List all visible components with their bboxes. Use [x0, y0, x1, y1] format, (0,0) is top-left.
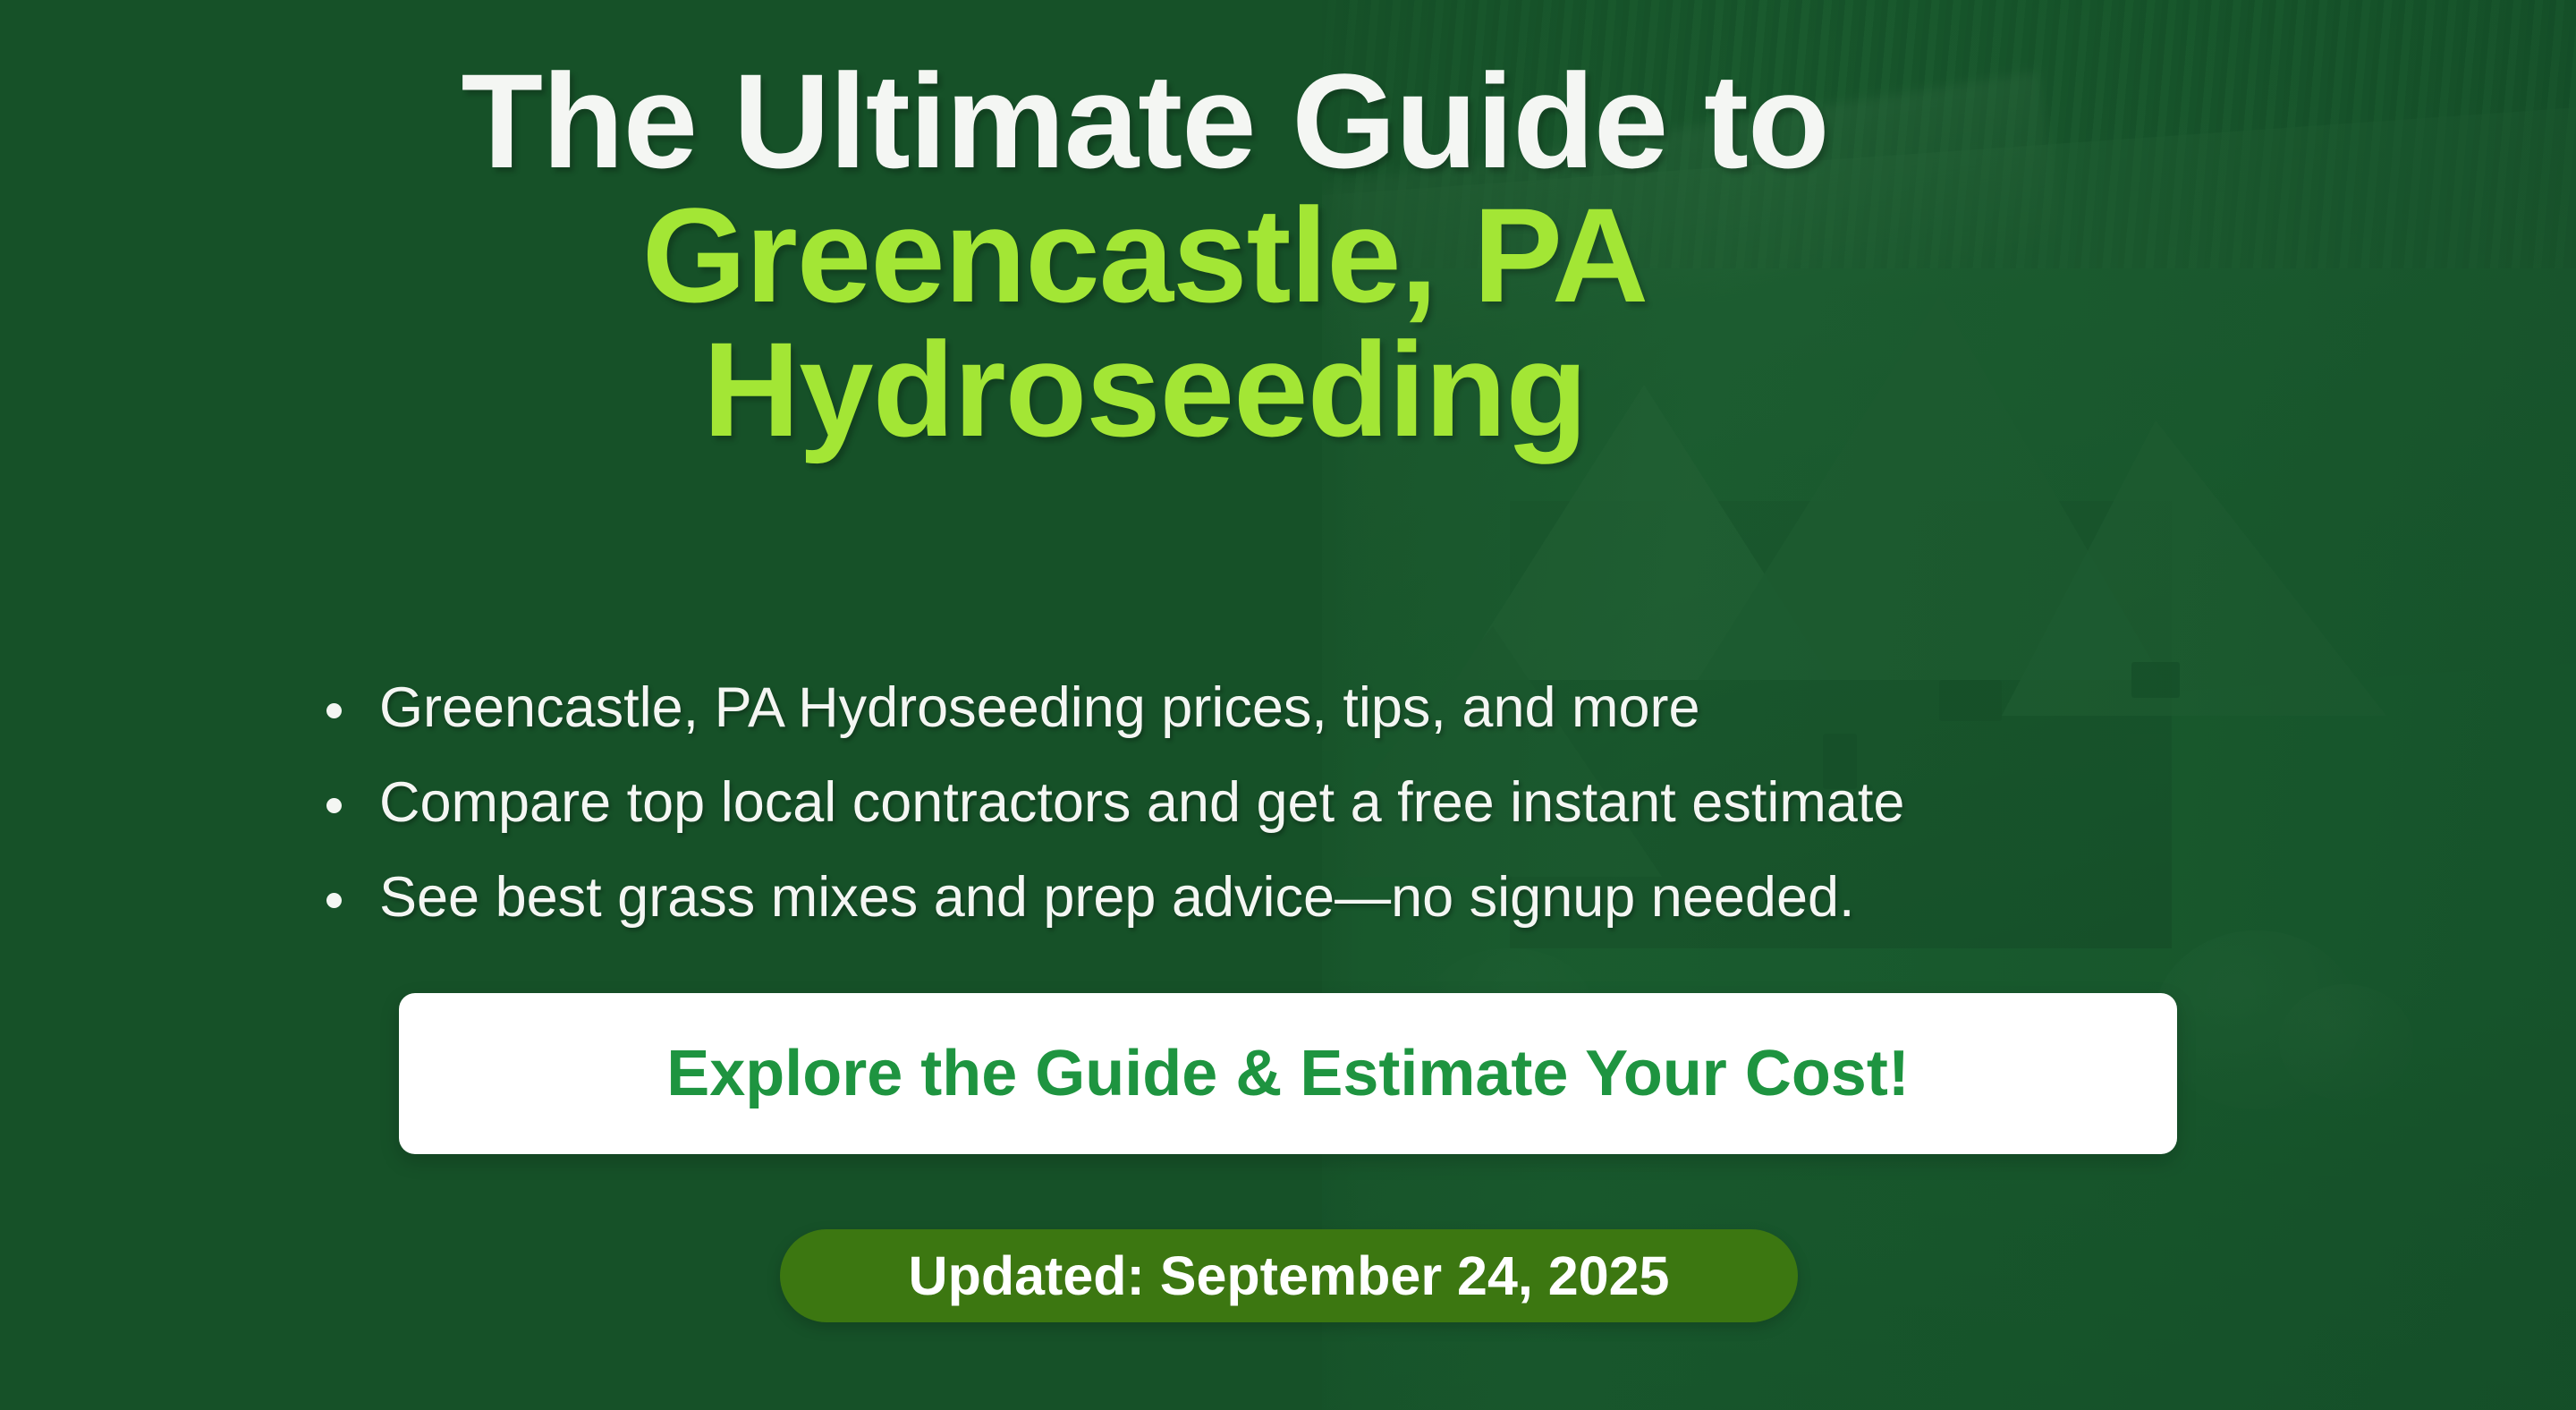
headline-line-1: The Ultimate Guide to [0, 54, 2290, 188]
bullet-dot-icon [326, 703, 342, 718]
explore-guide-cta-button[interactable]: Explore the Guide & Estimate Your Cost! [399, 993, 2177, 1154]
list-item: Compare top local contractors and get a … [318, 775, 1904, 831]
list-item: Greencastle, PA Hydroseeding prices, tip… [318, 680, 1904, 736]
list-item: See best grass mixes and prep advice—no … [318, 870, 1904, 926]
headline-line-2: Greencastle, PA [0, 188, 2290, 322]
list-item-label: Compare top local contractors and get a … [379, 771, 1904, 834]
hero-content: The Ultimate Guide to Greencastle, PA Hy… [0, 0, 2576, 1410]
headline-line-3: Hydroseeding [0, 322, 2290, 456]
benefit-list: Greencastle, PA Hydroseeding prices, tip… [318, 680, 1904, 964]
updated-date-badge: Updated: September 24, 2025 [780, 1229, 1798, 1322]
page-title: The Ultimate Guide to Greencastle, PA Hy… [0, 54, 2290, 456]
bullet-dot-icon [326, 893, 342, 908]
bullet-dot-icon [326, 798, 342, 813]
updated-date-label: Updated: September 24, 2025 [909, 1244, 1670, 1307]
list-item-label: Greencastle, PA Hydroseeding prices, tip… [379, 676, 1700, 739]
hero-banner: The Ultimate Guide to Greencastle, PA Hy… [0, 0, 2576, 1410]
list-item-label: See best grass mixes and prep advice—no … [379, 866, 1855, 929]
